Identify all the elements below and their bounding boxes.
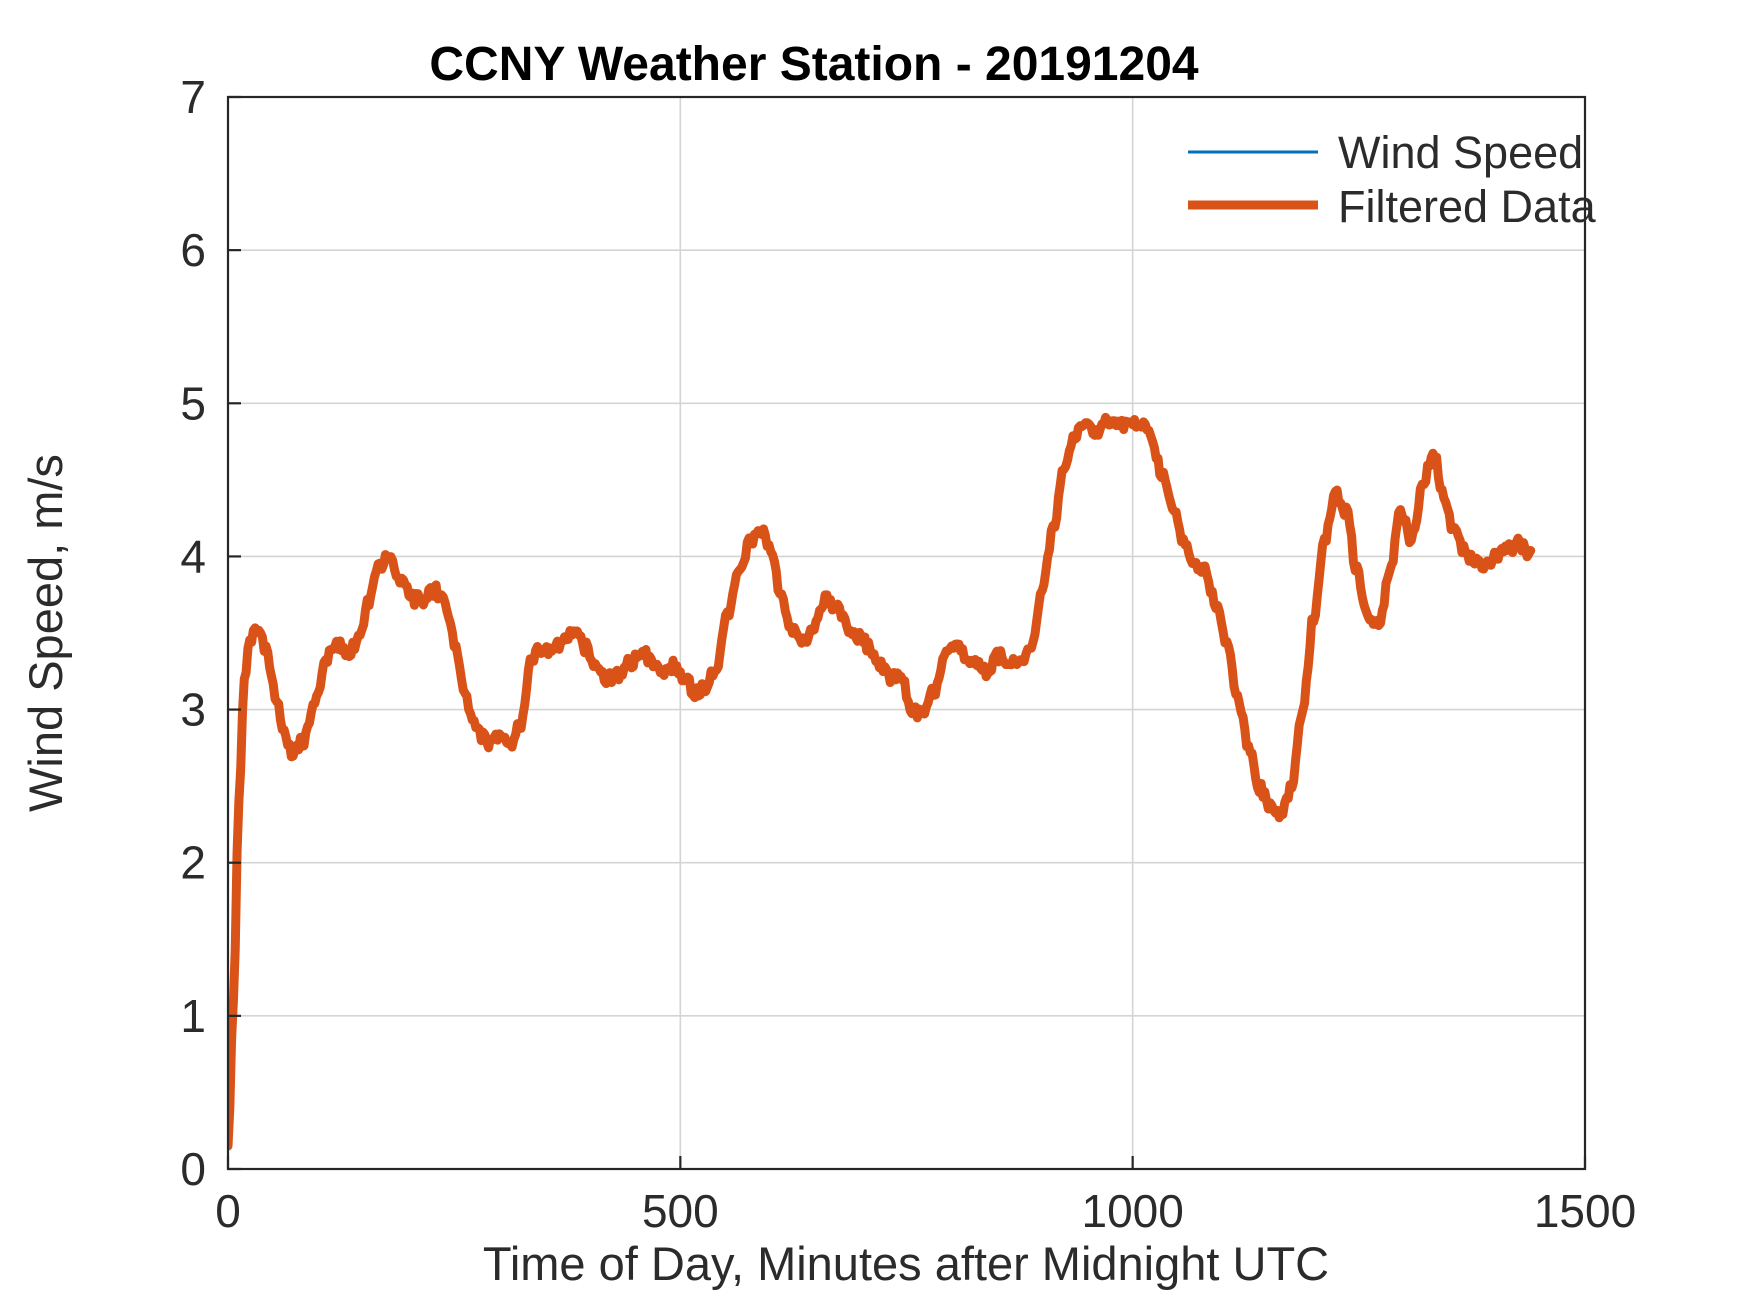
x-tick-label: 0 xyxy=(215,1185,241,1237)
legend-label-filtered-data[interactable]: Filtered Data xyxy=(1338,181,1597,232)
y-tick-label: 1 xyxy=(180,990,206,1042)
x-tick-label: 1000 xyxy=(1081,1185,1183,1237)
y-axis-title: Wind Speed, m/s xyxy=(19,454,72,812)
y-tick-label: 5 xyxy=(180,377,206,429)
chart-title: CCNY Weather Station - 20191204 xyxy=(429,38,1199,91)
y-tick-label: 6 xyxy=(180,224,206,276)
x-axis-title: Time of Day, Minutes after Midnight UTC xyxy=(483,1237,1329,1290)
y-tick-label: 3 xyxy=(180,684,206,736)
wind-speed-chart: CCNY Weather Station - 20191204 05001000… xyxy=(0,0,1750,1313)
legend-label-wind-speed[interactable]: Wind Speed xyxy=(1338,127,1583,178)
x-tick-label: 1500 xyxy=(1534,1185,1636,1237)
y-tick-label: 0 xyxy=(180,1143,206,1195)
figure-canvas: CCNY Weather Station - 20191204 05001000… xyxy=(0,0,1750,1313)
x-tick-label: 500 xyxy=(642,1185,719,1237)
y-tick-label: 2 xyxy=(180,837,206,889)
y-tick-label: 4 xyxy=(180,530,206,582)
y-tick-label: 7 xyxy=(180,71,206,123)
